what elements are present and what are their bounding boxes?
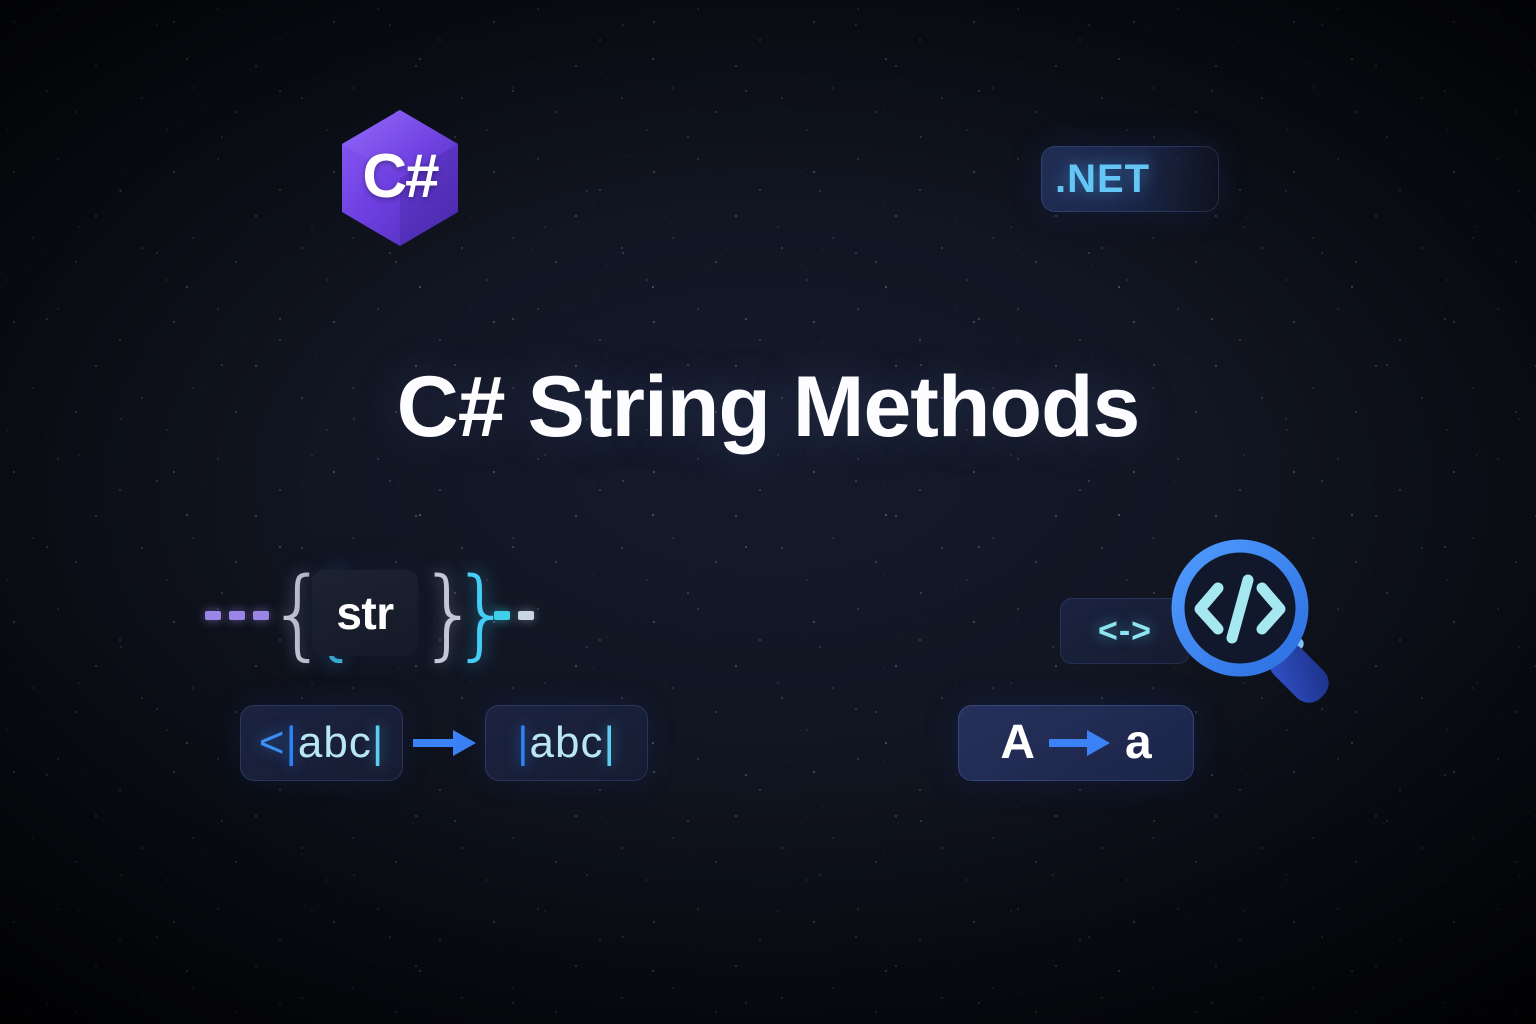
vignette-overlay [0,0,1536,1024]
trim-arrow-icon [413,727,477,759]
poster-canvas: C# .NET C# String Methods { { str } } < … [0,0,1536,1024]
starfield-layer-bright [0,0,1536,1024]
dash-left-2 [229,611,245,620]
dotnet-badge: .NET [1041,146,1219,212]
string-interpolation-graphic: { { str } } [205,556,525,674]
trim-after-chip: | abc | [485,705,648,781]
lowercase-letter: a [1125,719,1152,767]
trim-before-word: abc [298,718,372,768]
starfield-layer-faint [0,0,1536,1024]
trim-before-bracket: < [259,718,286,768]
page-title: C# String Methods [0,358,1536,457]
trim-after-pipe-right: | [603,718,615,768]
dash-right-1 [494,611,510,620]
uppercase-letter: A [1000,719,1035,767]
trim-after-pipe-left: | [517,718,529,768]
str-variable-label: str [336,586,393,640]
code-search-graphic: <-> [1060,536,1350,706]
dash-left-1 [205,611,221,620]
trim-before-pipe-left: | [285,718,297,768]
tolower-badge: A a [958,705,1194,781]
csharp-logo: C# [338,108,462,248]
str-variable-box: str [312,570,418,656]
trim-after-word: abc [530,718,604,768]
trim-before-pipe-right: | [372,718,384,768]
starfield-layer-mid [0,0,1536,1024]
dash-right-2 [518,611,534,620]
magnifier-code-icon [1160,536,1350,706]
csharp-logo-label: C# [338,108,462,248]
case-arrow-icon [1049,728,1111,758]
trim-before-chip: < | abc | [240,705,403,781]
dotnet-badge-label: .NET [1041,157,1150,202]
